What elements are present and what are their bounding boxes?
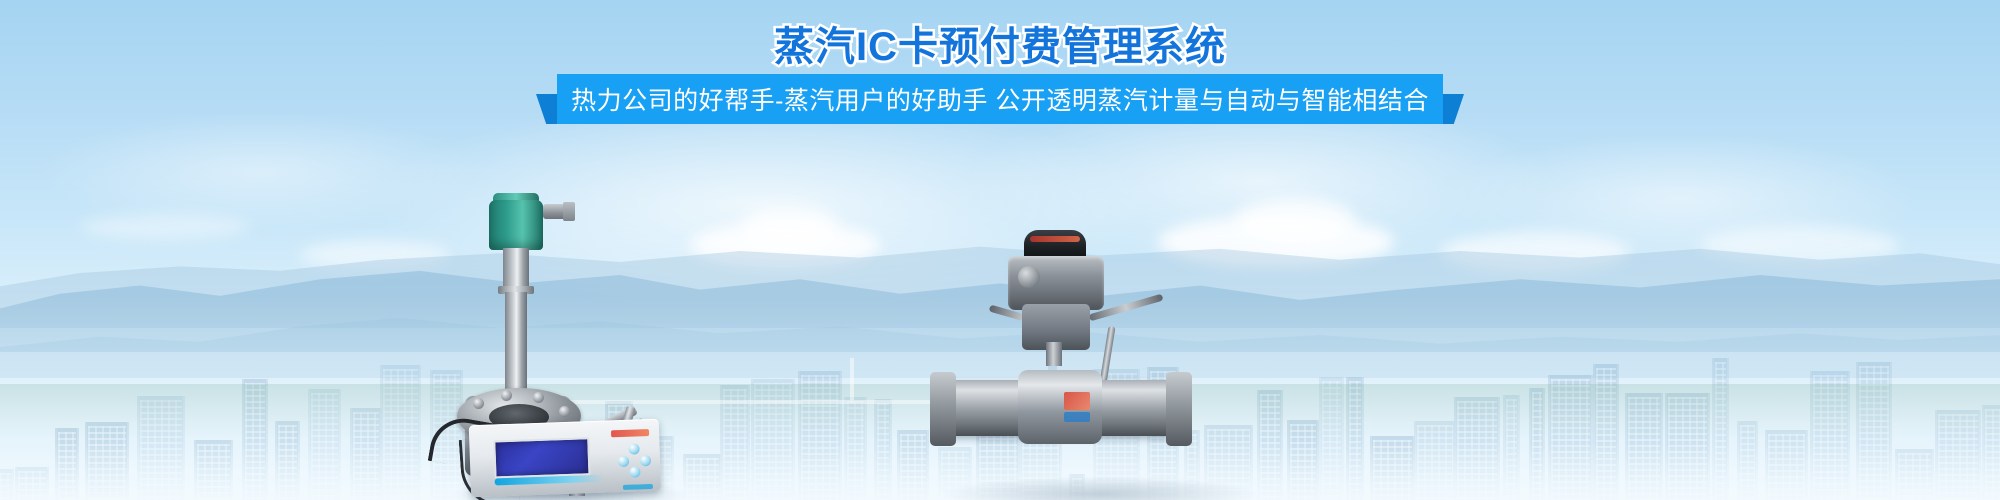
key-down: [629, 466, 640, 477]
nameplate-blue: [1064, 412, 1090, 422]
city-building: [1665, 393, 1710, 500]
city-building: [0, 469, 14, 500]
city-building: [275, 421, 300, 500]
city-building: [1257, 390, 1283, 500]
city-building: [1856, 362, 1892, 500]
city-building: [798, 371, 842, 500]
city-building: [15, 467, 49, 500]
city-building: [1982, 405, 2000, 500]
city-building: [844, 397, 867, 500]
keypad: [617, 443, 652, 478]
pneumatic-control-valve: [1000, 230, 1200, 500]
city-building: [85, 422, 129, 500]
city-building: [137, 396, 185, 500]
ic-card-controller: [469, 419, 662, 500]
city-building: [1765, 430, 1808, 500]
city-building: [1895, 449, 1934, 500]
city-building: [1529, 388, 1545, 500]
city-building: [1319, 377, 1344, 500]
city-building: [194, 440, 233, 500]
title-block: 蒸汽IC卡预付费管理系统: [0, 14, 2000, 72]
cloud-icon: [300, 240, 450, 270]
lcd-display: [493, 437, 590, 478]
pipe-flange: [1166, 372, 1192, 446]
city-building: [1712, 358, 1729, 500]
subtitle-text: 热力公司的好帮手-蒸汽用户的好助手 公开透明蒸汽计量与自动与智能相结合: [536, 74, 1464, 124]
city-building: [1287, 420, 1319, 500]
flange-bolt: [473, 398, 484, 409]
city-building: [1346, 377, 1364, 500]
city-building: [1548, 375, 1593, 500]
steam-ic-card-banner: 蒸汽IC卡预付费管理系统 热力公司的好帮手-蒸汽用户的好助手 公开透明蒸汽计量与…: [0, 0, 2000, 500]
city-building: [751, 379, 795, 500]
city-building: [683, 454, 722, 500]
subtitle-ribbon: 热力公司的好帮手-蒸汽用户的好助手 公开透明蒸汽计量与自动与智能相结合: [536, 74, 1464, 124]
key-left: [618, 456, 629, 467]
city-building: [1737, 421, 1758, 500]
flange-bolt: [501, 390, 512, 401]
city-building: [55, 428, 79, 500]
key-up: [628, 443, 639, 454]
city-building: [308, 389, 341, 500]
brand-logo: [611, 429, 649, 437]
city-building: [380, 365, 421, 500]
key-right: [640, 455, 651, 466]
cloud-icon: [742, 206, 838, 246]
city-building: [1370, 436, 1415, 500]
city-building: [1204, 425, 1253, 500]
city-building: [720, 385, 750, 500]
cloud-icon: [80, 214, 250, 240]
pipe-flange: [930, 372, 956, 446]
city-building: [1454, 397, 1500, 500]
city-building: [1593, 364, 1619, 500]
flange-bolt: [533, 392, 544, 403]
nameplate-red: [1064, 392, 1090, 410]
city-building: [1625, 393, 1663, 500]
city-building: [897, 430, 929, 500]
city-building: [938, 447, 972, 500]
city-building: [874, 399, 892, 500]
cloud-icon: [1235, 198, 1355, 242]
cloud-icon: [1440, 232, 1630, 272]
city-building: [1503, 395, 1520, 500]
model-label: [623, 484, 653, 490]
page-title: 蒸汽IC卡预付费管理系统: [774, 14, 1226, 72]
meter-neck: [503, 248, 529, 290]
city-building: [1810, 371, 1850, 500]
valve-stem: [1046, 342, 1062, 366]
city-building: [1935, 410, 1981, 500]
city-building: [350, 408, 382, 500]
motor-band: [1030, 236, 1080, 242]
city-building: [242, 379, 268, 500]
air-tube: [1100, 326, 1116, 384]
cloud-icon: [690, 222, 880, 268]
cloud-icon: [1700, 226, 1900, 264]
city-building: [1414, 421, 1456, 500]
conduit-nut: [563, 202, 575, 221]
transmitter-head: [489, 200, 543, 250]
actuator-housing: [1008, 256, 1104, 310]
